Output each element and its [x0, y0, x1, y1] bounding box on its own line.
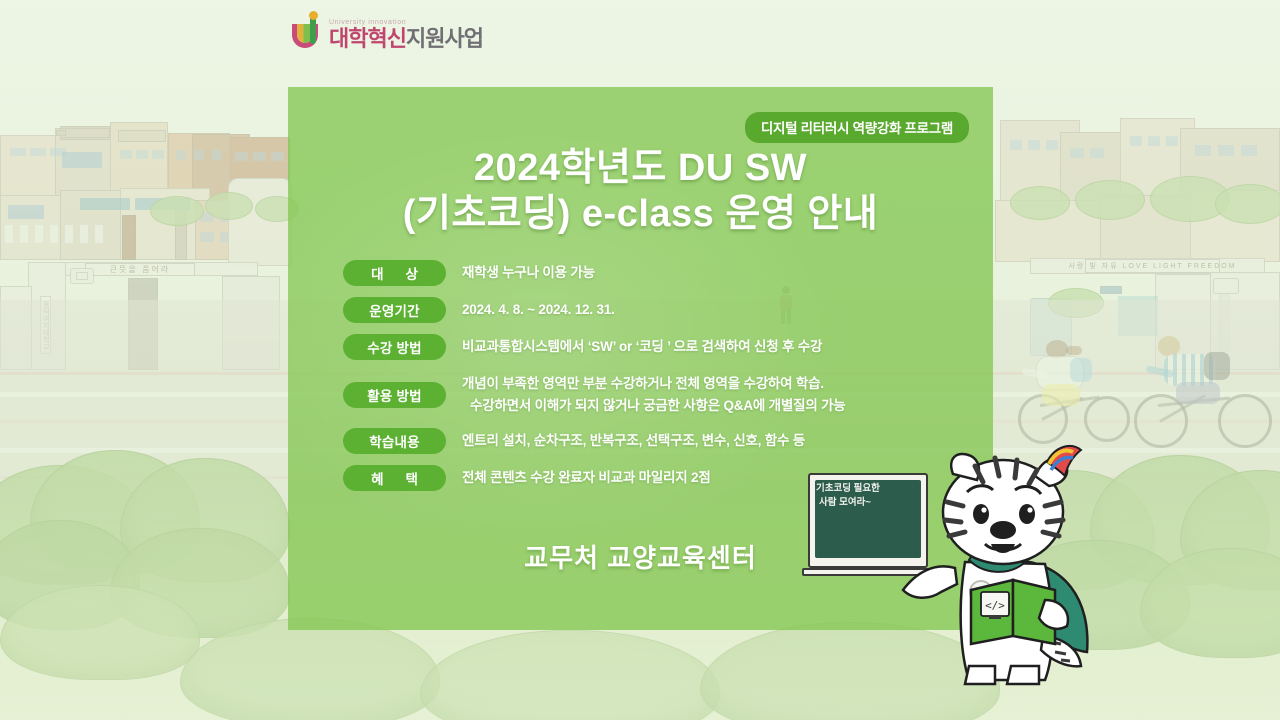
blackboard-line-1: 기초코딩 필요한: [816, 483, 880, 494]
info-value-benefit-line1: 전체 콘텐츠 수강 완료자 비교과 마일리지 2점: [462, 467, 711, 489]
gate-sign-right-text: 사랑 빛 자유 LOVE LIGHT FREEDOM: [1085, 259, 1220, 273]
info-value-target-line1: 재학생 누구나 이용 가능: [462, 262, 595, 284]
title-line-1: 2024학년도 DU SW: [474, 147, 807, 189]
info-label-curriculum: 학습내용: [343, 428, 446, 454]
program-badge: 디지털 리터러시 역량강화 프로그램: [745, 112, 969, 143]
info-value-curriculum: 엔트리 설치, 순차구조, 반복구조, 선택구조, 변수, 신호, 함수 등: [462, 428, 805, 452]
tiger-illustration: </>: [895, 440, 1125, 690]
svg-text:</>: </>: [985, 599, 1005, 612]
info-row-enrollment: 수강 방법 비교과통합시스템에서 ‘SW’ or ‘코딩 ’ 으로 검색하여 신…: [343, 334, 943, 360]
info-row-period: 운영기간 2024. 4. 8. ~ 2024. 12. 31.: [343, 297, 943, 323]
info-row-target: 대상 재학생 누구나 이용 가능: [343, 260, 943, 286]
info-value-enrollment: 비교과통합시스템에서 ‘SW’ or ‘코딩 ’ 으로 검색하여 신청 후 수강: [462, 334, 822, 358]
info-value-target: 재학생 누구나 이용 가능: [462, 260, 595, 284]
info-value-usage: 개념이 부족한 영역만 부분 수강하거나 전체 영역을 수강하여 학습. 수강하…: [462, 371, 846, 417]
info-value-usage-line2: 수강하면서 이해가 되지 않거나 궁금한 사항은 Q&A에 개별질의 가능: [470, 395, 846, 417]
info-value-enrollment-line1: 비교과통합시스템에서 ‘SW’ or ‘코딩 ’ 으로 검색하여 신청 후 수강: [462, 336, 822, 358]
logo-korean-secondary: 지원사업: [406, 26, 483, 51]
poster-title: 2024학년도 DU SW (기초코딩) e-class 운영 안내: [288, 145, 993, 238]
tiger-eye-right: [1019, 504, 1035, 524]
logo-mark-icon: [292, 14, 322, 50]
tiger-arm-left: [903, 566, 957, 597]
info-value-curriculum-line1: 엔트리 설치, 순차구조, 반복구조, 선택구조, 변수, 신호, 함수 등: [462, 430, 805, 452]
logo-english-text: University innovation: [329, 19, 483, 26]
info-value-usage-line1: 개념이 부족한 영역만 부분 수강하거나 전체 영역을 수강하여 학습.: [462, 373, 846, 395]
gate-sign-left-text: 큰뜻을 품어라: [85, 263, 195, 276]
white-tiger-mascot: </>: [895, 440, 1125, 690]
tiger-leg-left: [965, 666, 995, 684]
title-line-2: (기초코딩) e-class 운영 안내: [288, 191, 993, 237]
info-label-target: 대상: [343, 260, 446, 286]
tiger-eye-left: [973, 504, 989, 524]
info-label-enrollment: 수강 방법: [343, 334, 446, 360]
info-row-curriculum: 학습내용 엔트리 설치, 순차구조, 반복구조, 선택구조, 변수, 신호, 함…: [343, 428, 943, 454]
info-label-usage: 활용 방법: [343, 382, 446, 408]
info-value-period-line1: 2024. 4. 8. ~ 2024. 12. 31.: [462, 299, 615, 321]
info-row-usage: 활용 방법 개념이 부족한 영역만 부분 수강하거나 전체 영역을 수강하여 학…: [343, 371, 943, 417]
tiger-nose: [990, 521, 1016, 539]
info-label-period: 운영기간: [343, 297, 446, 323]
university-innovation-logo: University innovation 대학혁신지원사업: [292, 14, 483, 50]
info-label-benefit: 혜택: [343, 465, 446, 491]
info-value-benefit: 전체 콘텐츠 수강 완료자 비교과 마일리지 2점: [462, 465, 711, 489]
info-value-period: 2024. 4. 8. ~ 2024. 12. 31.: [462, 297, 615, 321]
info-rows: 대상 재학생 누구나 이용 가능 운영기간 2024. 4. 8. ~ 2024…: [343, 260, 943, 502]
tiger-leg-right: [1007, 666, 1039, 684]
logo-korean-primary: 대학혁신: [329, 26, 406, 51]
